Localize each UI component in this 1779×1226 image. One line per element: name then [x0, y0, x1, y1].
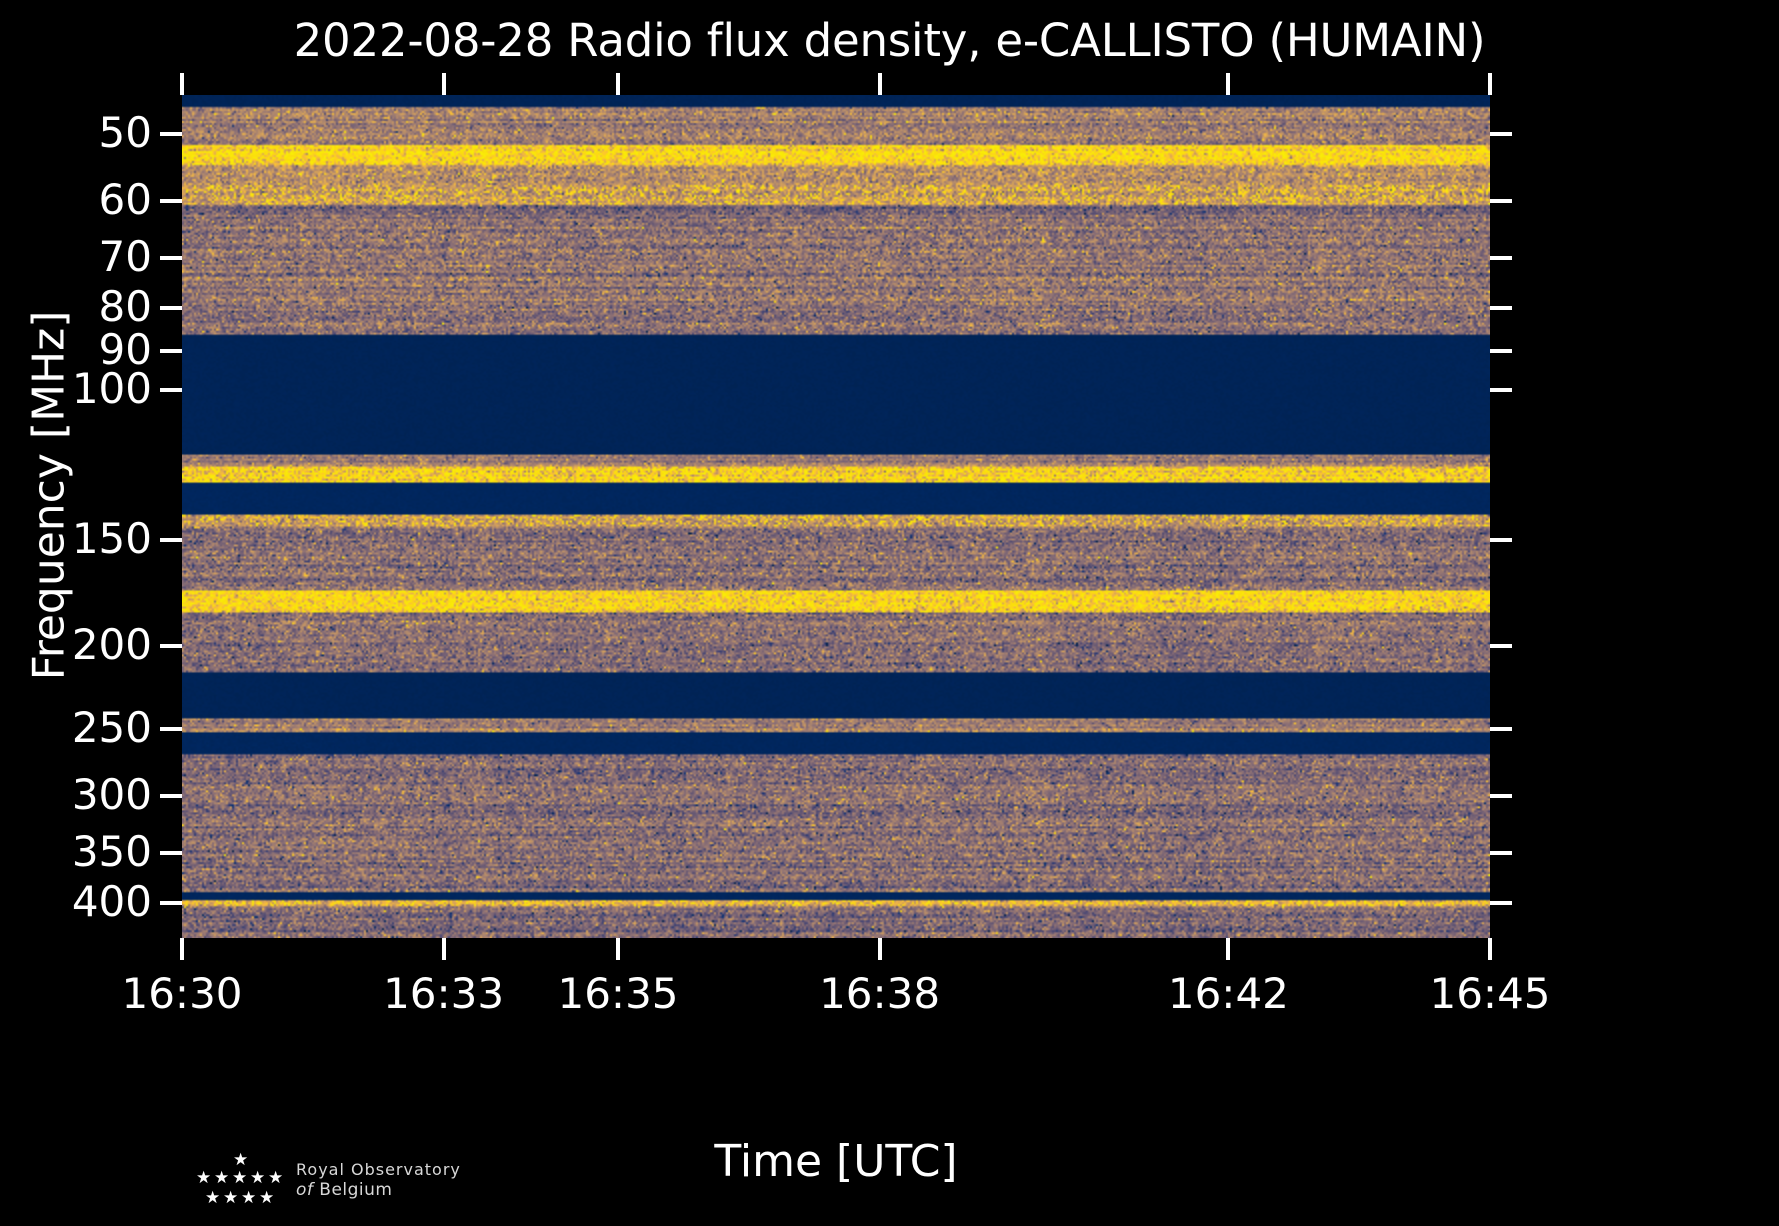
x-tick-label: 16:38	[819, 968, 940, 1020]
y-tick-label: 400	[72, 876, 152, 928]
x-tick-mark	[616, 938, 620, 960]
x-tick-mark	[1226, 938, 1230, 960]
y-tick-mark-right	[1490, 199, 1512, 203]
y-tick-label: 100	[72, 363, 152, 415]
y-tick-mark	[160, 306, 182, 310]
x-tick-label: 16:45	[1429, 968, 1550, 1020]
y-tick-mark-right	[1490, 132, 1512, 136]
star-glyph: ★	[259, 1190, 274, 1207]
x-tick-mark-top	[1488, 73, 1492, 95]
y-tick-label: 50	[99, 107, 152, 159]
star-glyph: ★	[233, 1152, 248, 1169]
y-tick-label: 200	[72, 619, 152, 671]
y-tick-mark	[160, 727, 182, 731]
x-tick-label: 16:35	[557, 968, 678, 1020]
star-glyph: ★	[268, 1170, 283, 1187]
y-tick-mark	[160, 644, 182, 648]
royal-observatory-logo: ★★★★★★★★★★ Royal Observatory of Belgium	[178, 1152, 598, 1222]
star-icon: ★★★★★★★★★★	[178, 1152, 288, 1214]
y-tick-mark	[160, 388, 182, 392]
y-tick-mark	[160, 256, 182, 260]
y-tick-label: 350	[72, 826, 152, 878]
y-tick-mark-right	[1490, 851, 1512, 855]
y-tick-mark-right	[1490, 794, 1512, 798]
y-tick-mark	[160, 851, 182, 855]
spectrogram-plot	[182, 95, 1490, 938]
spectrogram-canvas	[182, 95, 1490, 938]
y-tick-mark	[160, 794, 182, 798]
y-tick-mark-right	[1490, 538, 1512, 542]
star-glyph: ★	[214, 1170, 229, 1187]
star-glyph: ★	[241, 1190, 256, 1207]
y-tick-label: 250	[72, 702, 152, 754]
star-glyph: ★	[205, 1190, 220, 1207]
x-tick-label: 16:30	[121, 968, 242, 1020]
page-title: 2022-08-28 Radio flux density, e-CALLIST…	[0, 14, 1779, 67]
x-tick-mark	[878, 938, 882, 960]
x-tick-label: 16:33	[383, 968, 504, 1020]
x-tick-mark-top	[180, 73, 184, 95]
logo-line-1: Royal Observatory	[296, 1160, 596, 1180]
y-tick-mark-right	[1490, 901, 1512, 905]
y-tick-mark-right	[1490, 727, 1512, 731]
logo-of: of	[296, 1180, 313, 1200]
y-tick-label: 70	[99, 231, 152, 283]
logo-line-2: of Belgium	[296, 1180, 596, 1201]
y-tick-label: 150	[72, 513, 152, 565]
x-tick-mark-top	[442, 73, 446, 95]
y-tick-mark-right	[1490, 349, 1512, 353]
y-tick-mark	[160, 132, 182, 136]
y-tick-mark	[160, 349, 182, 353]
y-tick-mark	[160, 199, 182, 203]
star-glyph: ★	[232, 1170, 247, 1187]
x-tick-mark	[180, 938, 184, 960]
y-tick-mark-right	[1490, 256, 1512, 260]
star-glyph: ★	[223, 1190, 238, 1207]
y-tick-mark-right	[1490, 644, 1512, 648]
logo-belgium: Belgium	[319, 1180, 392, 1200]
x-tick-mark-top	[878, 73, 882, 95]
x-tick-mark	[442, 938, 446, 960]
x-tick-mark-top	[616, 73, 620, 95]
y-tick-mark-right	[1490, 306, 1512, 310]
y-tick-mark	[160, 538, 182, 542]
y-tick-label: 300	[72, 769, 152, 821]
x-tick-mark-top	[1226, 73, 1230, 95]
y-axis-label: Frequency [MHz]	[24, 96, 75, 896]
x-tick-mark	[1488, 938, 1492, 960]
star-glyph: ★	[250, 1170, 265, 1187]
y-tick-label: 60	[99, 174, 152, 226]
x-tick-label: 16:42	[1168, 968, 1289, 1020]
y-tick-mark-right	[1490, 388, 1512, 392]
y-tick-mark	[160, 901, 182, 905]
star-glyph: ★	[196, 1170, 211, 1187]
logo-text: Royal Observatory of Belgium	[296, 1160, 596, 1201]
